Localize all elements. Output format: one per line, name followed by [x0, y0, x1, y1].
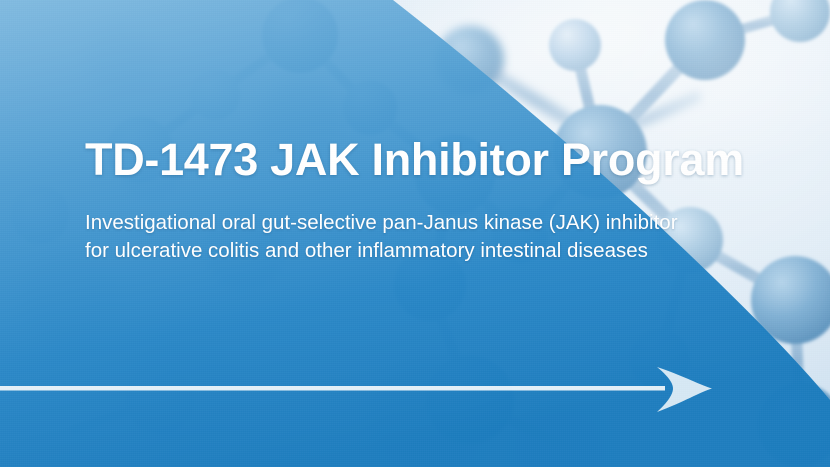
slide-text-block: TD-1473 JAK Inhibitor Program Investigat… [85, 132, 745, 265]
presentation-slide: TD-1473 JAK Inhibitor Program Investigat… [0, 0, 830, 467]
slide-subtitle: Investigational oral gut-selective pan-J… [85, 209, 705, 265]
page-title: TD-1473 JAK Inhibitor Program [85, 132, 745, 187]
